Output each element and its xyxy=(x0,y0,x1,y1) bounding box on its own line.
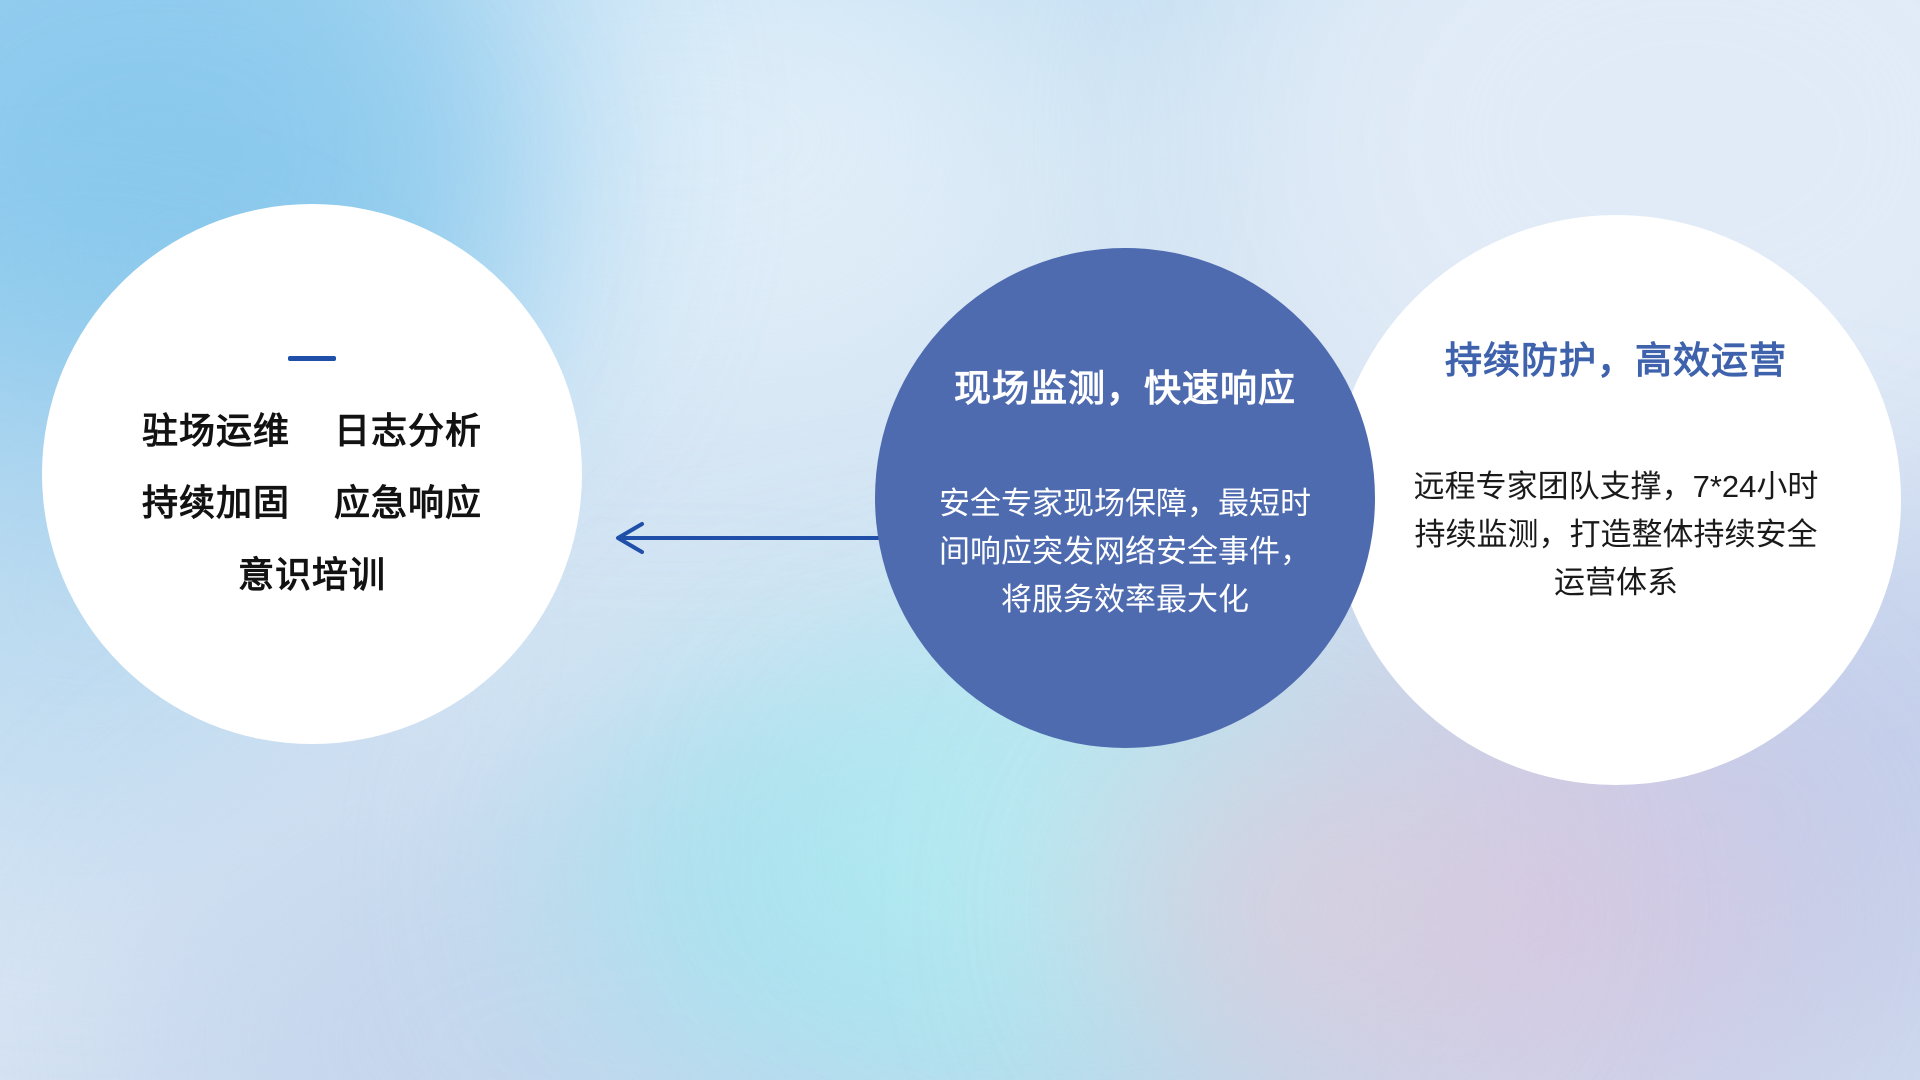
left-keyword-list: 驻场运维 日志分析 持续加固 应急响应 意识培训 xyxy=(142,413,482,593)
divider-dash-icon xyxy=(288,356,336,361)
connector-arrow xyxy=(608,518,898,558)
left-capability-circle[interactable]: 驻场运维 日志分析 持续加固 应急响应 意识培训 xyxy=(42,204,582,744)
middle-service-circle[interactable]: 现场监测，快速响应 安全专家现场保障，最短时间响应突发网络安全事件，将服务效率最… xyxy=(875,248,1375,748)
right-circle-title: 持续防护，高效运营 xyxy=(1445,330,1787,384)
right-service-circle[interactable]: 持续防护，高效运营 远程专家团队支撑，7*24小时持续监测，打造整体持续安全运营… xyxy=(1331,215,1901,785)
middle-circle-title: 现场监测，快速响应 xyxy=(954,358,1296,412)
left-keyword-line-3: 意识培训 xyxy=(142,557,482,593)
middle-circle-body: 安全专家现场保障，最短时间响应突发网络安全事件，将服务效率最大化 xyxy=(935,480,1315,624)
left-keyword-line-1: 驻场运维 日志分析 xyxy=(142,413,482,449)
diagram-canvas: 驻场运维 日志分析 持续加固 应急响应 意识培训 持续防护，高效运营 远程专家团… xyxy=(0,0,1920,1080)
left-keyword-line-2: 持续加固 应急响应 xyxy=(142,485,482,521)
right-circle-body: 远程专家团队支撑，7*24小时持续监测，打造整体持续安全运营体系 xyxy=(1401,463,1831,607)
